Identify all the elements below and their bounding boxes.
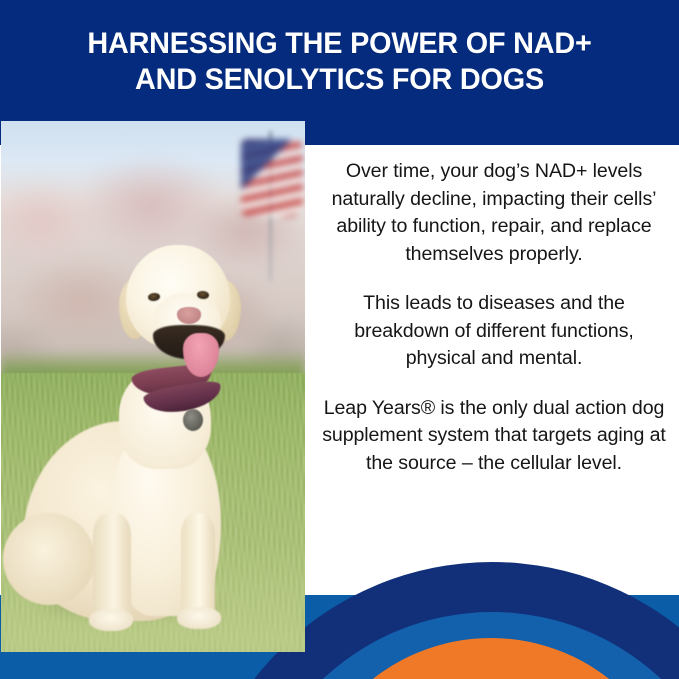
body-copy: Over time, your dog’s NAD+ levels natura… xyxy=(320,158,668,477)
dog-front-leg-left xyxy=(93,513,131,623)
dog-photo: LeapYears xyxy=(1,121,305,652)
dog-paw-right xyxy=(177,607,221,629)
dog xyxy=(1,121,305,652)
page-title-line-1: HARNESSING THE POWER OF NAD+ xyxy=(14,26,666,62)
poster-root: HARNESSING THE POWER OF NAD+ AND SENOLYT… xyxy=(0,0,679,679)
dog-nose xyxy=(177,307,201,324)
page-title: HARNESSING THE POWER OF NAD+ AND SENOLYT… xyxy=(14,26,666,98)
body-paragraph-3: Leap Years® is the only dual action dog … xyxy=(320,395,668,478)
body-paragraph-2: This leads to diseases and the breakdown… xyxy=(320,290,668,373)
body-paragraph-1: Over time, your dog’s NAD+ levels natura… xyxy=(320,158,668,268)
page-title-line-2: AND SENOLYTICS FOR DOGS xyxy=(14,62,666,98)
dog-front-leg-right xyxy=(181,513,215,621)
dog-paw-left xyxy=(89,609,133,631)
photo-background: LeapYears xyxy=(1,121,305,652)
dog-id-tag xyxy=(183,409,203,431)
dog-tongue xyxy=(183,333,219,377)
dog-hindquarters xyxy=(3,513,95,605)
